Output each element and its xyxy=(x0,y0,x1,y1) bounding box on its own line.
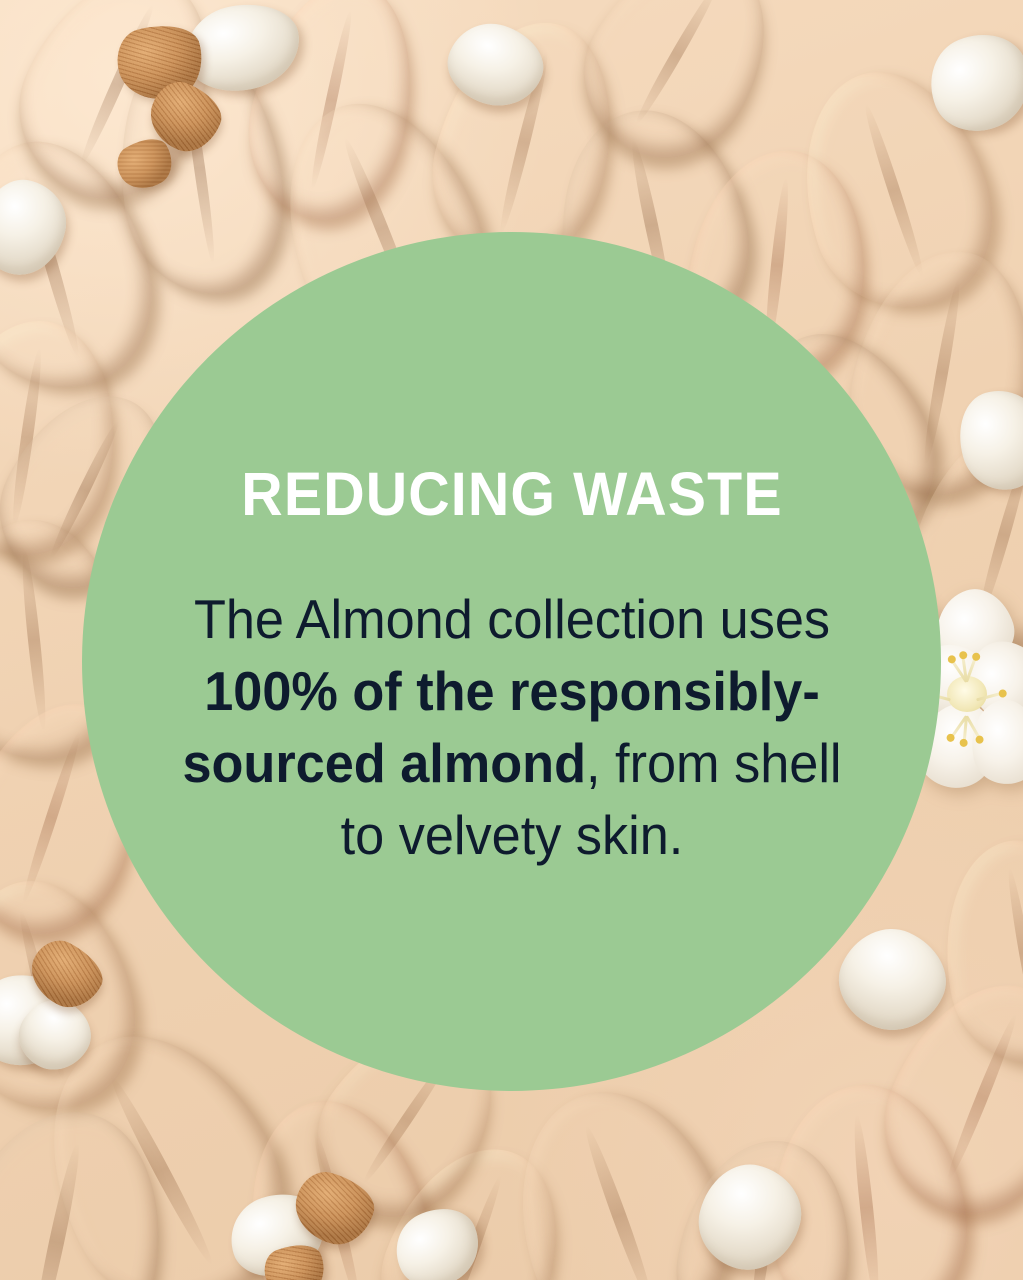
callout-body-text: to velvety skin. xyxy=(340,804,683,866)
callout-body-emphasis: 100% of the responsibly- xyxy=(204,660,820,722)
callout-body-emphasis: sourced almond xyxy=(182,732,586,794)
callout-body-line: sourced almond, from shell xyxy=(160,727,863,799)
promo-card: REDUCING WASTE The Almond collection use… xyxy=(0,0,1023,1280)
callout-body: The Almond collection uses 100% of the r… xyxy=(160,583,863,871)
callout-heading: REDUCING WASTE xyxy=(241,464,782,525)
green-circle-callout: REDUCING WASTE The Almond collection use… xyxy=(82,232,941,1091)
callout-body-line: 100% of the responsibly- xyxy=(160,655,863,727)
callout-body-line: to velvety skin. xyxy=(160,799,863,871)
callout-body-line: The Almond collection uses xyxy=(160,583,863,655)
callout-body-text: The Almond collection uses xyxy=(193,588,829,650)
callout-body-text: , from shell xyxy=(586,732,842,794)
